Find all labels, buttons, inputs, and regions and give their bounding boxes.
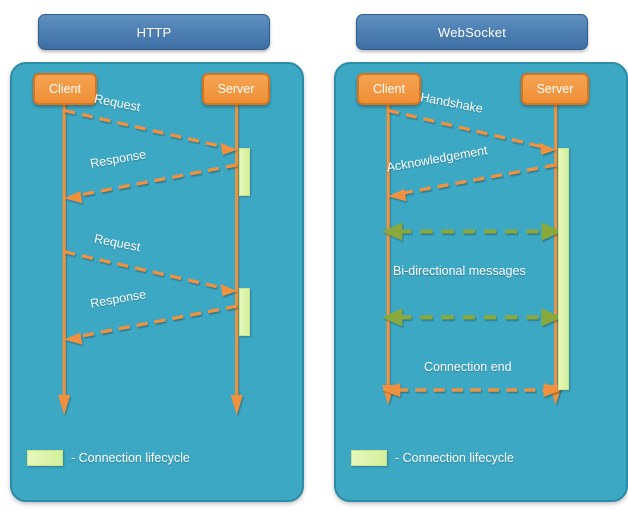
lifecycle-bar-http-1 [239, 148, 250, 196]
legend-swatch-icon [351, 450, 387, 466]
actor-server-http-label: Server [218, 82, 255, 96]
panel-title-websocket: WebSocket [356, 14, 588, 50]
legend-websocket-label: - Connection lifecycle [395, 451, 514, 465]
legend-swatch-icon [27, 450, 63, 466]
panel-title-websocket-label: WebSocket [438, 25, 506, 40]
legend-http: - Connection lifecycle [27, 450, 190, 466]
panel-title-http-label: HTTP [137, 25, 172, 40]
diagram-canvas: HTTP WebSocket [0, 0, 628, 511]
actor-server-http[interactable]: Server [202, 73, 270, 105]
websocket-message-arrow-bidirectional-2 [382, 308, 562, 326]
legend-http-label: - Connection lifecycle [71, 451, 190, 465]
http-message-arrow-response-1 [64, 165, 237, 203]
actor-client-websocket-label: Client [373, 82, 405, 96]
panel-title-http: HTTP [38, 14, 270, 50]
websocket-message-arrow-connection-end [382, 383, 562, 397]
http-message-arrow-request-2 [64, 252, 237, 296]
message-label-connection-end: Connection end [424, 360, 512, 374]
actor-client-http[interactable]: Client [33, 73, 97, 105]
websocket-sequence-svg [336, 64, 626, 500]
message-label-bidirectional-messages: Bi-directional messages [393, 264, 526, 278]
lifecycle-bar-http-2 [239, 288, 250, 336]
actor-server-websocket-label: Server [537, 82, 574, 96]
lifecycle-bar-websocket-1 [558, 148, 569, 390]
actor-client-websocket[interactable]: Client [357, 73, 421, 105]
websocket-message-arrow-bidirectional-1 [382, 222, 562, 240]
sequence-panel-http: Client Server Request Response Request R… [10, 62, 304, 502]
http-sequence-svg [12, 64, 302, 500]
http-message-arrow-response-2 [64, 306, 237, 344]
actor-client-http-label: Client [49, 82, 81, 96]
http-message-arrow-request-1 [64, 110, 237, 154]
legend-websocket: - Connection lifecycle [351, 450, 514, 466]
sequence-panel-websocket: Client Server Handshake Acknowledgement … [334, 62, 628, 502]
websocket-message-arrow-acknowledgement [388, 165, 556, 201]
actor-server-websocket[interactable]: Server [521, 73, 589, 105]
